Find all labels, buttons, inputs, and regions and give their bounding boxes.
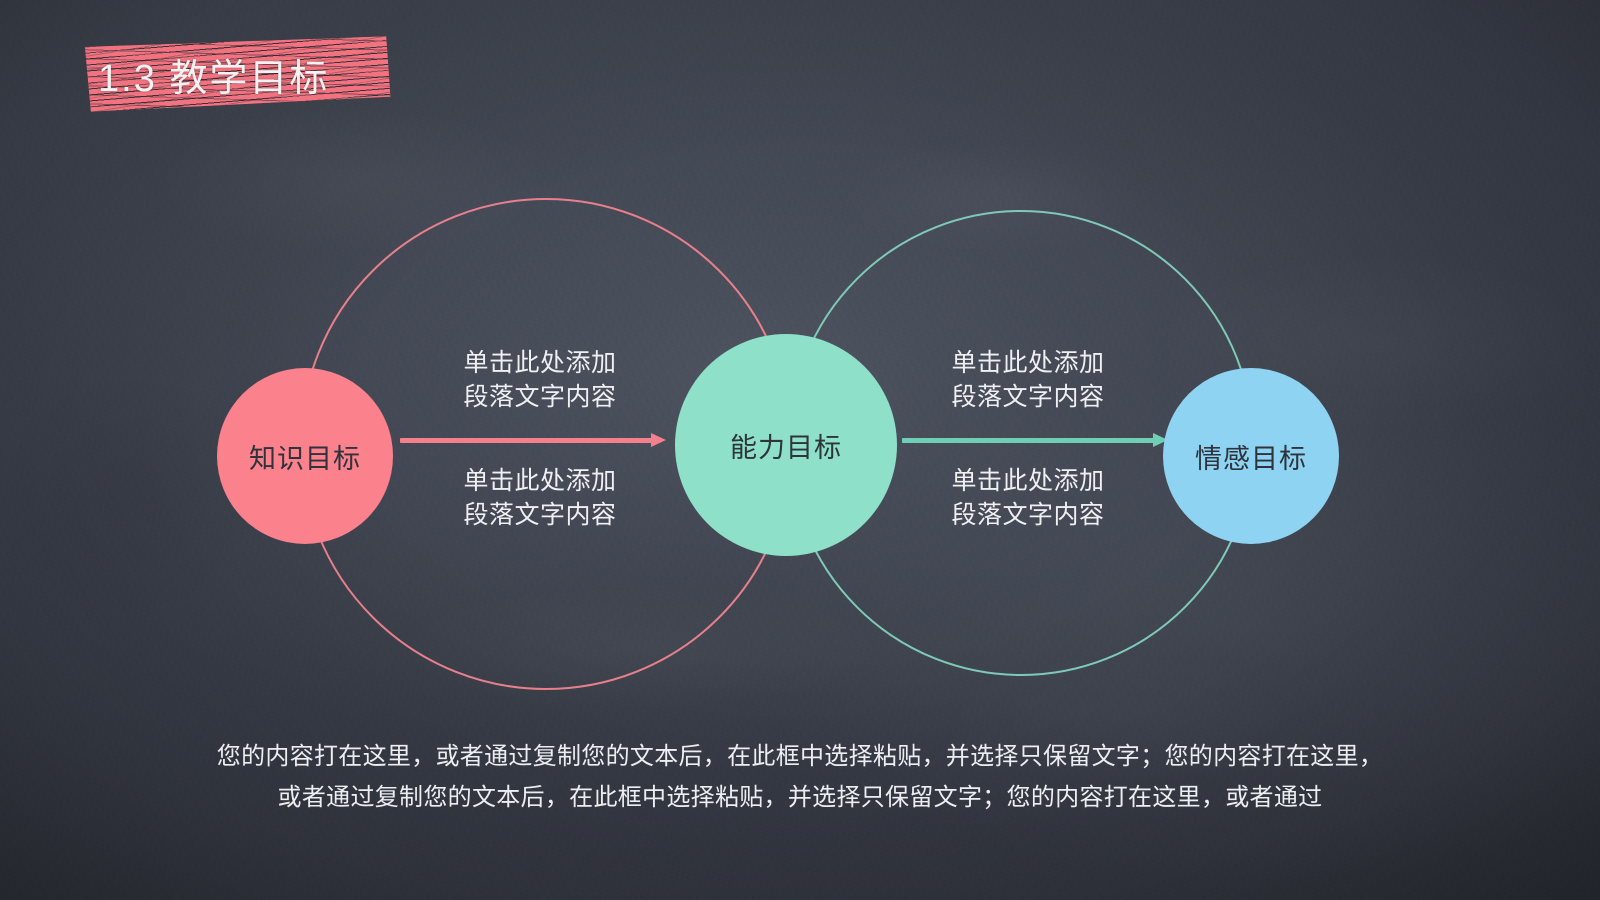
arrow-ability-to-emotion[interactable] — [902, 438, 1168, 443]
footer-paragraph[interactable]: 您的内容打在这里，或者通过复制您的文本后，在此框中选择粘贴，并选择只保留文字；您… — [110, 736, 1490, 819]
node-emotion-goal[interactable]: 情感目标 — [1163, 368, 1339, 544]
footer-line-2: 或者通过复制您的文本后，在此框中选择粘贴，并选择只保留文字；您的内容打在这里，或… — [110, 777, 1490, 818]
arrow-shaft — [400, 438, 653, 443]
node-label: 知识目标 — [249, 437, 361, 476]
page-title-text: 1.3 教学目标 — [98, 47, 329, 102]
footer-line-1: 您的内容打在这里，或者通过复制您的文本后，在此框中选择粘贴，并选择只保留文字；您… — [110, 736, 1490, 777]
node-ability-goal[interactable]: 能力目标 — [675, 334, 897, 556]
node-label: 情感目标 — [1195, 437, 1307, 476]
page-title: 1.3 教学目标 — [84, 38, 390, 110]
arrow-knowledge-to-ability[interactable] — [400, 438, 666, 443]
slide-canvas: 1.3 教学目标 知识目标 能力目标 情感目标 单击此处添加 段落文字内容 单击… — [0, 0, 1600, 900]
node-knowledge-goal[interactable]: 知识目标 — [217, 368, 393, 544]
arrow-shaft — [902, 438, 1155, 443]
node-label: 能力目标 — [730, 426, 842, 465]
arrow-head-icon — [651, 433, 666, 447]
